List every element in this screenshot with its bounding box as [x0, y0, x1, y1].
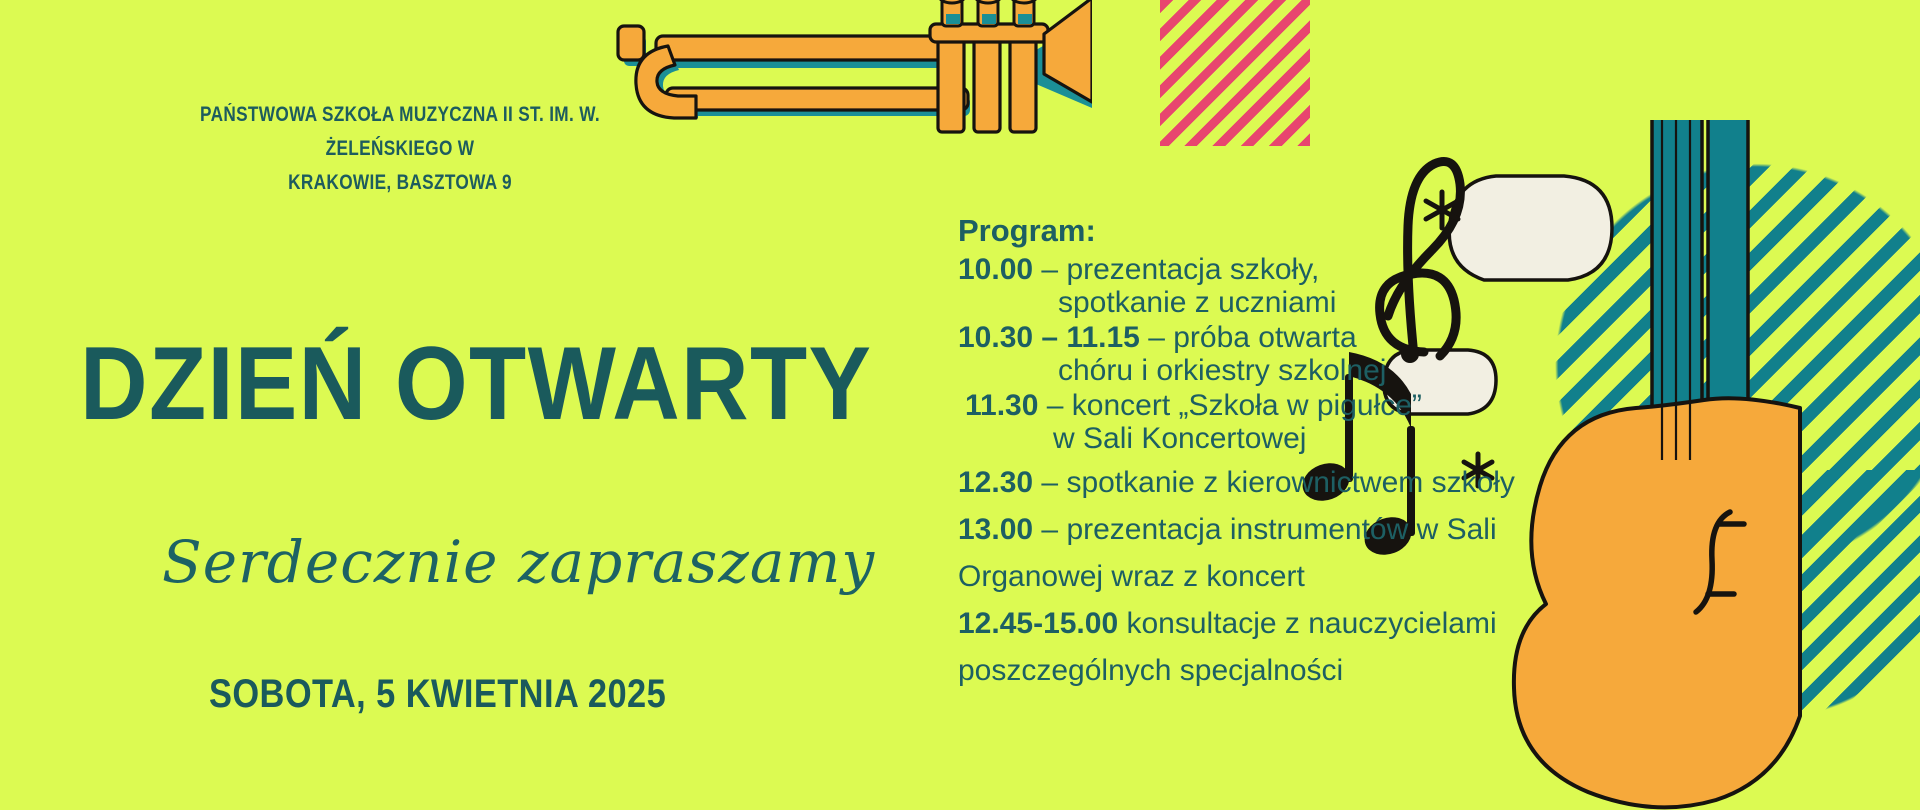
school-name: PAŃSTWOWA SZKOŁA MUZYCZNA II ST. IM. W. … — [170, 98, 629, 200]
program-item: 13.00 – prezentacja instrumentów w Sali — [958, 515, 1618, 545]
program-item-desc: konsultacje z nauczycielami — [1126, 607, 1496, 640]
program-item-desc2: spotkanie z uczniami — [958, 288, 1618, 318]
pink-stripes-icon — [1160, 0, 1310, 146]
program-item-desc: prezentacja szkoły, — [1066, 253, 1319, 286]
program-item: 10.30 – 11.15 – próba otwarta — [958, 323, 1618, 353]
poster-canvas: PAŃSTWOWA SZKOŁA MUZYCZNA II ST. IM. W. … — [0, 0, 1920, 810]
page-title: DZIEŃ OTWARTY — [80, 332, 872, 436]
program-item-dash: – — [1038, 389, 1071, 422]
program-item-dash: – — [1033, 253, 1066, 286]
program-item-dash: – — [1140, 321, 1173, 354]
teal-stripes-lower-icon — [1660, 470, 1920, 750]
program-item-desc: spotkanie z kierownictwem szkoły — [1066, 466, 1515, 499]
program-section: Program: 10.00 – prezentacja szkoły, spo… — [958, 215, 1618, 691]
program-item-time: 10.00 — [958, 253, 1033, 286]
program-item: 10.00 – prezentacja szkoły, — [958, 255, 1618, 285]
program-item: 12.30 – spotkanie z kierownictwem szkoły — [958, 468, 1618, 498]
invitation-text: Serdecznie zapraszamy — [162, 528, 875, 596]
program-heading: Program: — [958, 215, 1618, 246]
program-item-time: 11.30 — [965, 389, 1038, 422]
program-item-desc2: Organowej wraz z koncert — [958, 562, 1618, 592]
program-item-desc: prezentacja instrumentów w Sali — [1066, 513, 1496, 546]
program-item-desc2: chóru i orkiestry szkolnej — [958, 356, 1618, 386]
program-item-desc2: w Sali Koncertowej — [958, 424, 1618, 454]
program-item: 11.30 – koncert „Szkoła w pigułce” — [958, 391, 1618, 421]
program-item-desc: koncert „Szkoła w pigułce” — [1072, 389, 1422, 422]
program-item-time: 10.30 – 11.15 — [958, 321, 1140, 354]
program-item-dash: – — [1033, 466, 1066, 499]
program-item-time: 12.30 — [958, 466, 1033, 499]
event-date: SOBOTA, 5 KWIETNIA 2025 — [209, 672, 666, 717]
trumpet-icon — [612, 0, 1092, 134]
program-item-desc: próba otwarta — [1173, 321, 1356, 354]
program-item-desc2: poszczególnych specjalności — [958, 656, 1618, 686]
program-item-time: 12.45-15.00 — [958, 607, 1118, 640]
program-item-dash: – — [1033, 513, 1066, 546]
program-item-time: 13.00 — [958, 513, 1033, 546]
program-item: 12.45-15.00 konsultacje z nauczycielami — [958, 609, 1618, 639]
